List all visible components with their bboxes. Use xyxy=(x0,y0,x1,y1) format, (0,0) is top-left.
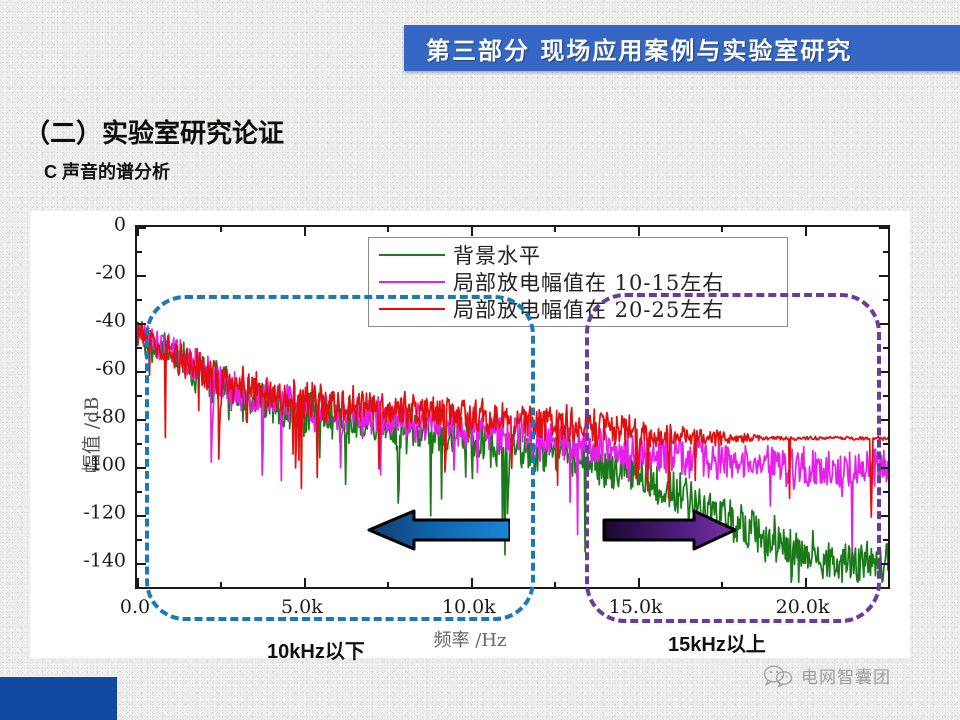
y-minor-tick xyxy=(137,539,142,541)
y-minor-tick xyxy=(137,395,142,397)
y-tick xyxy=(137,323,146,325)
y-tick-label: -60 xyxy=(95,358,126,380)
y-minor-tick xyxy=(137,443,142,445)
x-tick-top xyxy=(471,227,473,236)
x-minor-tick-top xyxy=(721,227,723,232)
y-tick-right xyxy=(879,227,888,229)
legend-item: 背景水平 xyxy=(379,242,787,269)
legend-item: 局部放电幅值在 10-15左右 xyxy=(379,269,787,296)
y-tick-label: -140 xyxy=(83,550,126,572)
y-tick-label: -100 xyxy=(83,454,126,476)
y-minor-tick xyxy=(137,347,142,349)
y-tick-right xyxy=(879,275,888,277)
x-axis-label: 频率 /Hz xyxy=(434,626,507,652)
y-tick-label: -20 xyxy=(95,262,126,284)
low-band-highlight-rect xyxy=(145,295,535,621)
header-ribbon: 第三部分 现场应用案例与实验室研究 xyxy=(404,25,960,71)
left-arrow xyxy=(366,509,510,551)
page-subtitle: C 声音的谱分析 xyxy=(44,158,170,184)
right-arrow xyxy=(602,509,738,551)
y-minor-tick-right xyxy=(883,491,888,493)
y-minor-tick-right xyxy=(883,395,888,397)
y-tick xyxy=(137,275,146,277)
high-band-highlight-rect xyxy=(585,293,881,623)
y-minor-tick-right xyxy=(883,251,888,253)
high-band-caption: 15kHz以上 xyxy=(668,628,766,657)
wechat-icon xyxy=(763,665,793,687)
y-minor-tick-right xyxy=(883,299,888,301)
x-minor-tick-top xyxy=(220,227,222,232)
x-tick-top xyxy=(805,227,807,236)
x-minor-tick xyxy=(554,582,556,587)
x-minor-tick-top xyxy=(387,227,389,232)
y-minor-tick xyxy=(137,251,142,253)
header-title: 第三部分 现场应用案例与实验室研究 xyxy=(404,31,852,66)
legend-label: 背景水平 xyxy=(453,240,541,270)
x-minor-tick-top xyxy=(554,227,556,232)
y-tick-label: -40 xyxy=(95,310,126,332)
x-tick-label: 0.0 xyxy=(120,596,150,618)
x-tick-top xyxy=(638,227,640,236)
legend-swatch-background xyxy=(379,254,445,256)
y-tick-label: 0 xyxy=(114,214,126,236)
footer-accent-block xyxy=(0,677,117,720)
watermark-label: 电网智囊团 xyxy=(801,663,891,688)
low-band-caption: 10kHz以下 xyxy=(267,635,365,664)
y-minor-tick-right xyxy=(883,443,888,445)
x-tick-top xyxy=(137,227,139,236)
y-minor-tick-right xyxy=(883,539,888,541)
y-tick-label: -120 xyxy=(83,502,126,524)
watermark: 电网智囊团 xyxy=(763,663,891,688)
page-title: （二）实验室研究论证 xyxy=(24,113,284,150)
x-tick-top xyxy=(304,227,306,236)
y-minor-tick xyxy=(137,299,142,301)
legend-swatch-pd-10-15 xyxy=(379,281,445,283)
y-minor-tick-right xyxy=(883,347,888,349)
y-tick-right xyxy=(879,323,888,325)
y-tick-label: -80 xyxy=(95,406,126,428)
y-minor-tick xyxy=(137,491,142,493)
x-tick xyxy=(137,578,139,587)
